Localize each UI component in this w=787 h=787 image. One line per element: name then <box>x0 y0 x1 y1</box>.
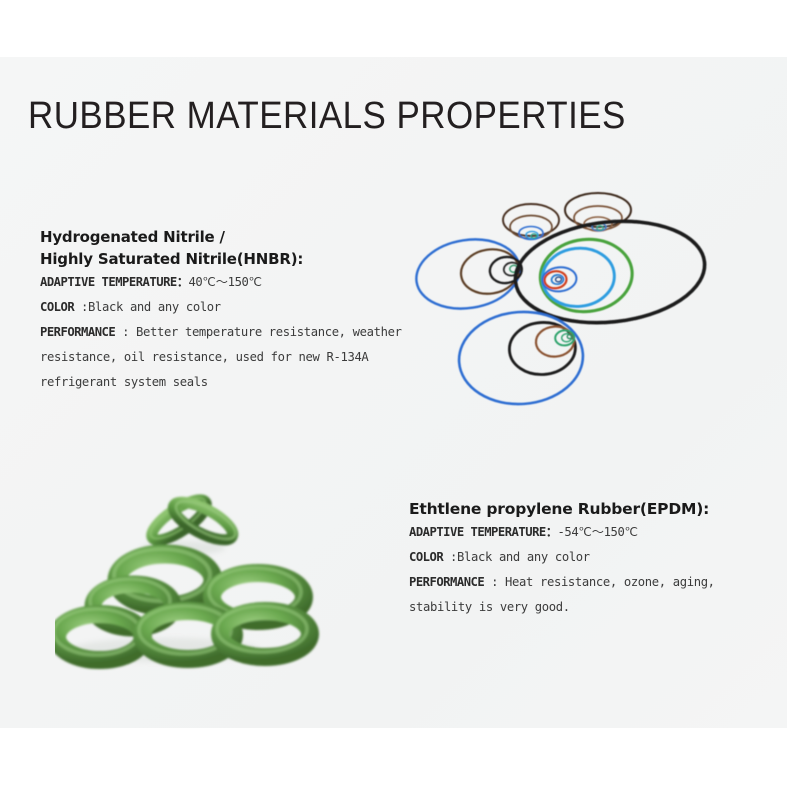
hnbr-spec-color: COLOR :Black and any color <box>40 295 420 320</box>
ring-group-top-left <box>503 204 559 240</box>
ring-group-top-right <box>565 193 631 231</box>
epdm-temperature-label: ADAPTIVE TEMPERATURE： <box>409 525 557 539</box>
hnbr-temperature-label: ADAPTIVE TEMPERATURE： <box>40 275 188 289</box>
poster-root: RUBBER MATERIALS PROPERTIES <box>0 0 787 787</box>
hnbr-spec-temperature: ADAPTIVE TEMPERATURE：40℃～150℃ <box>40 270 420 295</box>
hnbr-spec-performance: PERFORMANCE : Better temperature resista… <box>40 320 420 395</box>
hnbr-performance-label: PERFORMANCE <box>40 325 122 339</box>
ring-group-left <box>411 232 526 316</box>
page-title: RUBBER MATERIALS PROPERTIES <box>28 94 626 138</box>
epdm-temperature-value: -54℃～150℃ <box>557 525 637 539</box>
hnbr-color-value: :Black and any color <box>81 300 221 314</box>
epdm-spec-performance: PERFORMANCE : Heat resistance, ozone, ag… <box>409 570 779 620</box>
material-block-hnbr: Hydrogenated Nitrile / Highly Saturated … <box>40 226 420 395</box>
ring-group-bottom <box>456 308 586 408</box>
hnbr-color-label: COLOR <box>40 300 81 314</box>
epdm-spec-color: COLOR :Black and any color <box>409 545 779 570</box>
epdm-performance-label: PERFORMANCE <box>409 575 491 589</box>
epdm-heading-line1: Ethtlene propylene Rubber(EPDM): <box>409 498 779 520</box>
epdm-color-value: :Black and any color <box>450 550 590 564</box>
epdm-color-label: COLOR <box>409 550 450 564</box>
green-o-rings-photo <box>55 465 330 675</box>
hnbr-temperature-value: 40℃～150℃ <box>188 275 261 289</box>
hnbr-heading-line2: Highly Saturated Nitrile(HNBR): <box>40 248 420 270</box>
epdm-spec-temperature: ADAPTIVE TEMPERATURE：-54℃～150℃ <box>409 520 779 545</box>
hnbr-heading-line1: Hydrogenated Nitrile / <box>40 226 420 248</box>
o-ring-assortment-photo <box>395 172 730 432</box>
material-block-epdm: Ethtlene propylene Rubber(EPDM): ADAPTIV… <box>409 498 779 620</box>
